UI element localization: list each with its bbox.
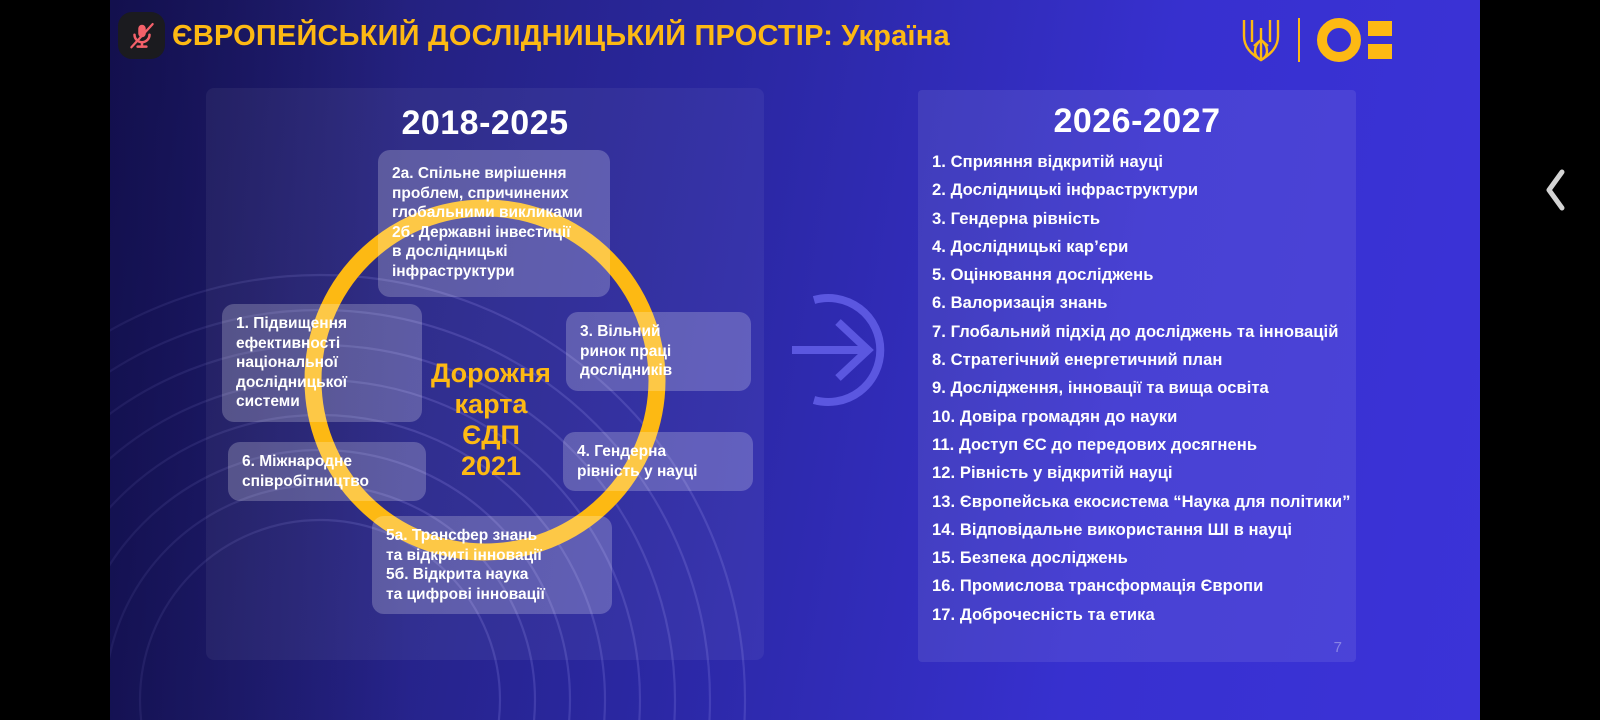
list-item: 4. Дослідницькі кар’єри xyxy=(932,233,1358,261)
device-screen: ЄВРОПЕЙСЬКИЙ ДОСЛІДНИЦЬКИЙ ПРОСТІР: Укра… xyxy=(0,0,1600,720)
cycle-node-2: 2а. Спільне вирішення проблем, спричинен… xyxy=(378,150,610,297)
brand-logos xyxy=(1240,10,1394,70)
list-item: 17. Доброчесність та етика xyxy=(932,601,1358,629)
cycle-node-3: 3. Вільний ринок праці дослідників xyxy=(566,312,751,391)
page-number: 7 xyxy=(1334,639,1342,656)
mic-muted-icon[interactable] xyxy=(118,12,165,59)
ukraine-trident-icon xyxy=(1240,12,1282,68)
presentation-slide: ЄВРОПЕЙСЬКИЙ ДОСЛІДНИЦЬКИЙ ПРОСТІР: Укра… xyxy=(110,0,1480,720)
page-title: ЄВРОПЕЙСЬКИЙ ДОСЛІДНИЦЬКИЙ ПРОСТІР: Укра… xyxy=(172,16,1182,56)
list-item: 9. Дослідження, інновації та вища освіта xyxy=(932,374,1358,402)
cycle-center-label: Дорожня карта ЄДП 2021 xyxy=(396,358,586,482)
list-item: 11. Доступ ЄС до передових досягнень xyxy=(932,431,1358,459)
list-item: 6. Валоризація знань xyxy=(932,289,1358,317)
list-item: 12. Рівність у відкритій науці xyxy=(932,459,1358,487)
android-nav-bar xyxy=(1480,0,1600,720)
chevron-left-icon[interactable] xyxy=(1536,160,1576,220)
list-item: 13. Європейська екосистема “Наука для по… xyxy=(932,488,1358,516)
era-priorities-list: 1. Сприяння відкритій науці 2. Дослідниц… xyxy=(932,148,1358,629)
list-item: 15. Безпека досліджень xyxy=(932,544,1358,572)
right-panel-heading: 2026-2027 xyxy=(918,102,1356,141)
slide-header: ЄВРОПЕЙСЬКИЙ ДОСЛІДНИЦЬКИЙ ПРОСТІР: Укра… xyxy=(110,0,1480,80)
roadmap-cycle-diagram: 2а. Спільне вирішення проблем, спричинен… xyxy=(206,130,764,660)
list-item: 14. Відповідальне використання ШІ в науц… xyxy=(932,516,1358,544)
list-item: 2. Дослідницькі інфраструктури xyxy=(932,176,1358,204)
cycle-node-4: 4. Гендерна рівність у науці xyxy=(563,432,753,491)
panel-2026-2027: 2026-2027 1. Сприяння відкритій науці 2.… xyxy=(918,90,1356,662)
list-item: 16. Промислова трансформація Європи xyxy=(932,572,1358,600)
cycle-node-1: 1. Підвищення ефективності національної … xyxy=(222,304,422,422)
list-item: 8. Стратегічний енергетичний план xyxy=(932,346,1358,374)
list-item: 10. Довіра громадян до науки xyxy=(932,403,1358,431)
list-item: 3. Гендерна рівність xyxy=(932,205,1358,233)
list-item: 1. Сприяння відкритій науці xyxy=(932,148,1358,176)
brand-divider xyxy=(1298,18,1300,62)
list-item: 7. Глобальний підхід до досліджень та ін… xyxy=(932,318,1358,346)
list-item: 5. Оцінювання досліджень xyxy=(932,261,1358,289)
cycle-node-5: 5а. Трансфер знань та відкриті інновації… xyxy=(372,516,612,614)
open-education-logo-icon xyxy=(1316,16,1394,64)
arrow-right-circle-icon xyxy=(790,290,900,410)
